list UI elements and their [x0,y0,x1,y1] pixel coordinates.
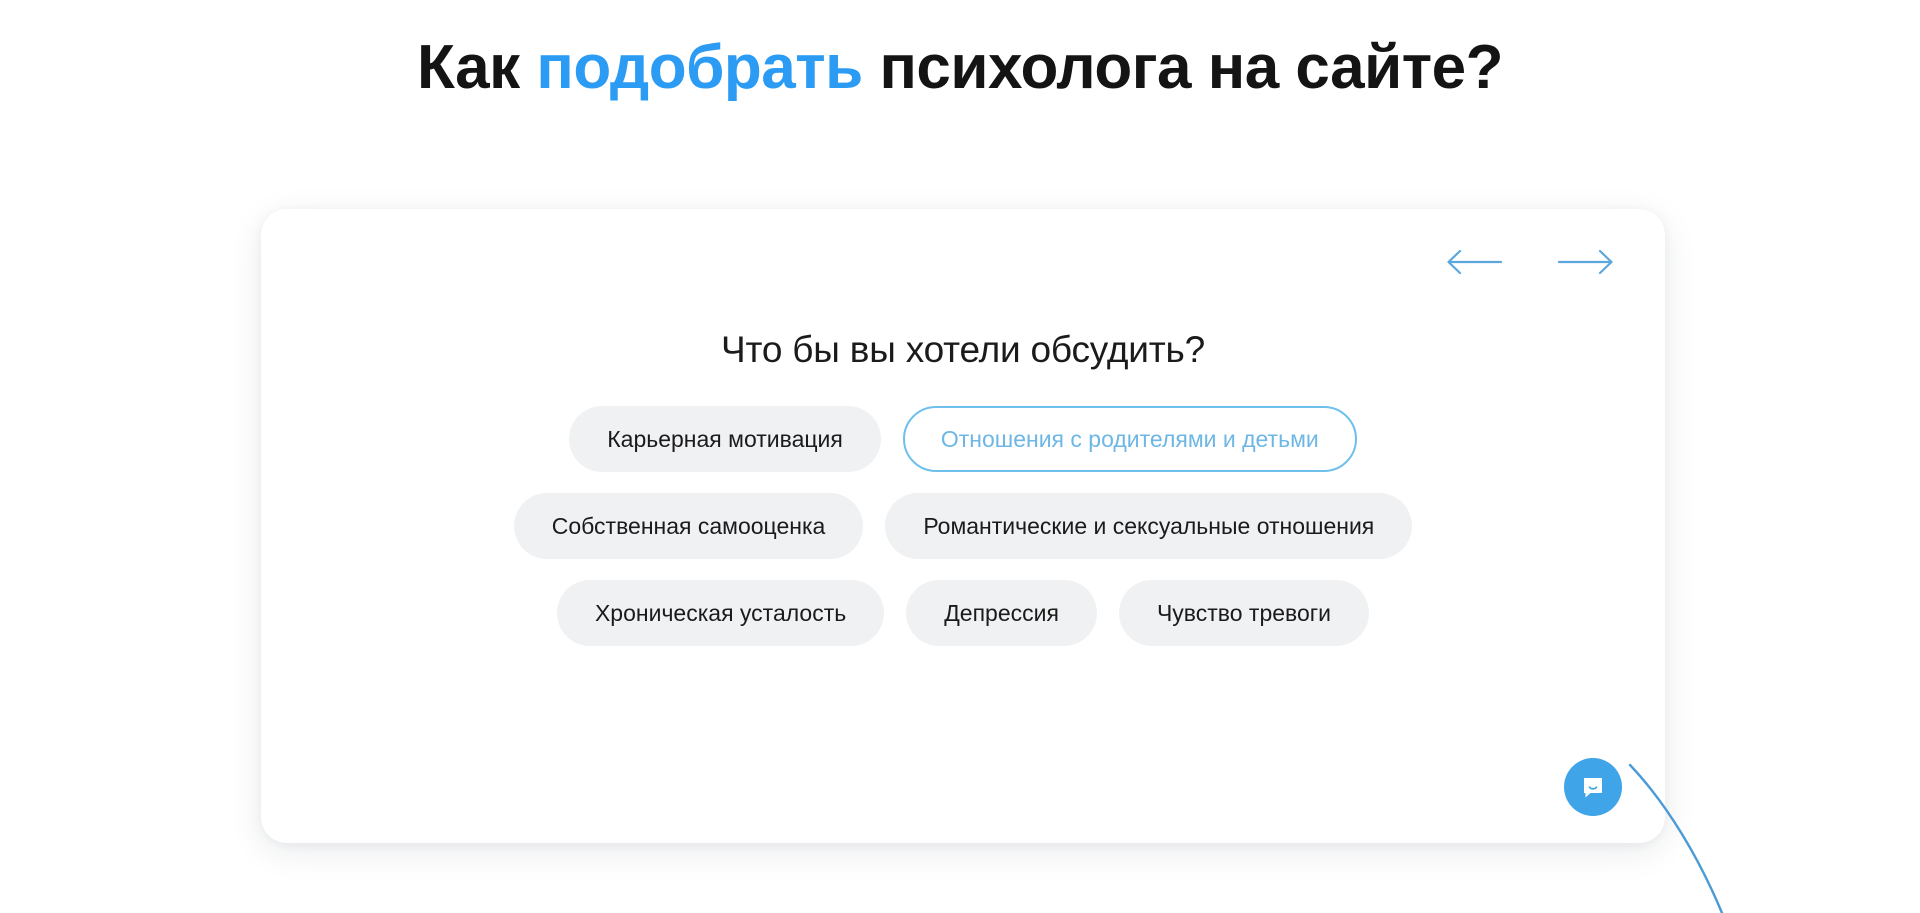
page-title: Как подобрать психолога на сайте? [0,30,1920,106]
chat-launcher-button[interactable] [1564,758,1622,816]
selector-card: Что бы вы хотели обсудить? Карьерная мот… [261,209,1665,843]
page-title-suffix: психолога на сайте? [863,33,1503,102]
chip-row: Карьерная мотивация Отношения с родителя… [569,406,1356,472]
topic-chip[interactable]: Карьерная мотивация [569,406,881,472]
question-heading: Что бы вы хотели обсудить? [261,327,1665,373]
chat-bubble-smile-icon [1578,772,1608,802]
topic-chip[interactable]: Собственная самооценка [514,493,864,559]
topic-chip[interactable]: Романтические и сексуальные отношения [885,493,1412,559]
topic-chip[interactable]: Хроническая усталость [557,580,884,646]
topic-chip[interactable]: Депрессия [906,580,1097,646]
topic-chip-selected[interactable]: Отношения с родителями и детьми [903,406,1357,472]
page-title-prefix: Как [417,33,536,102]
page-root: Как подобрать психолога на сайте? Что бы… [0,0,1920,913]
prev-arrow-button[interactable] [1445,247,1503,277]
arrow-left-icon [1445,247,1503,277]
chip-row: Собственная самооценка Романтические и с… [514,493,1413,559]
card-navigation [1445,247,1615,277]
page-title-accent: подобрать [536,33,862,102]
next-arrow-button[interactable] [1557,247,1615,277]
topic-chip[interactable]: Чувство тревоги [1119,580,1369,646]
topic-chip-group: Карьерная мотивация Отношения с родителя… [261,406,1665,646]
chip-row: Хроническая усталость Депрессия Чувство … [557,580,1369,646]
arrow-right-icon [1557,247,1615,277]
